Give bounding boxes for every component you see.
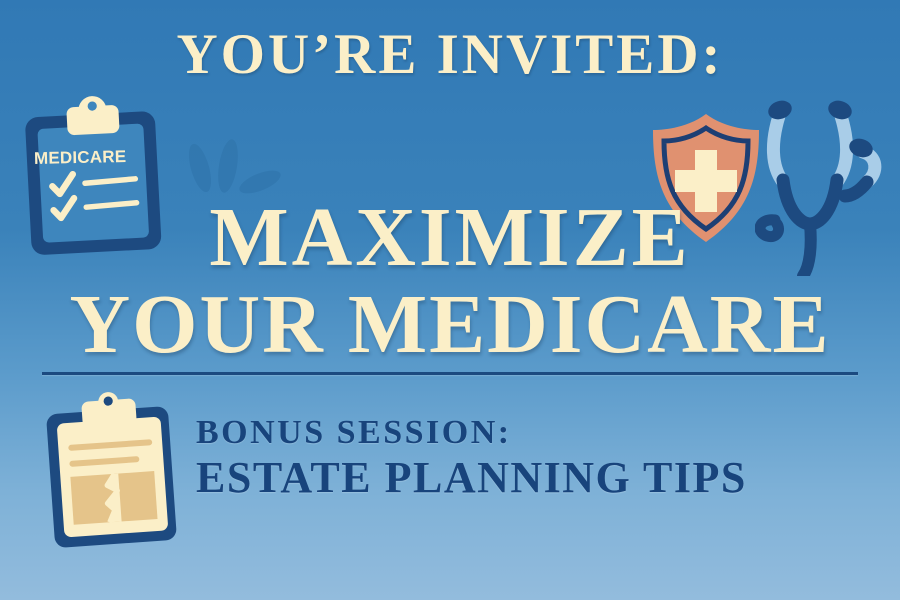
- section-divider: [42, 372, 858, 375]
- clipboard-medicare-label: MEDICARE: [34, 147, 127, 169]
- page-title: MAXIMIZE YOUR MEDICARE: [0, 196, 900, 366]
- bonus-session-block: BONUS SESSION: ESTATE PLANNING TIPS: [196, 414, 856, 504]
- page-title-line1: MAXIMIZE: [0, 196, 900, 279]
- clipboard-torn-document-icon: [38, 386, 186, 554]
- page-eyebrow: YOU’RE INVITED:: [0, 26, 900, 83]
- bonus-session-label: BONUS SESSION:: [196, 414, 856, 451]
- bonus-session-title: ESTATE PLANNING TIPS: [196, 453, 856, 504]
- page-title-line2: YOUR MEDICARE: [0, 283, 900, 366]
- invitation-poster: MEDICARE YOU’RE INVIT: [0, 0, 900, 600]
